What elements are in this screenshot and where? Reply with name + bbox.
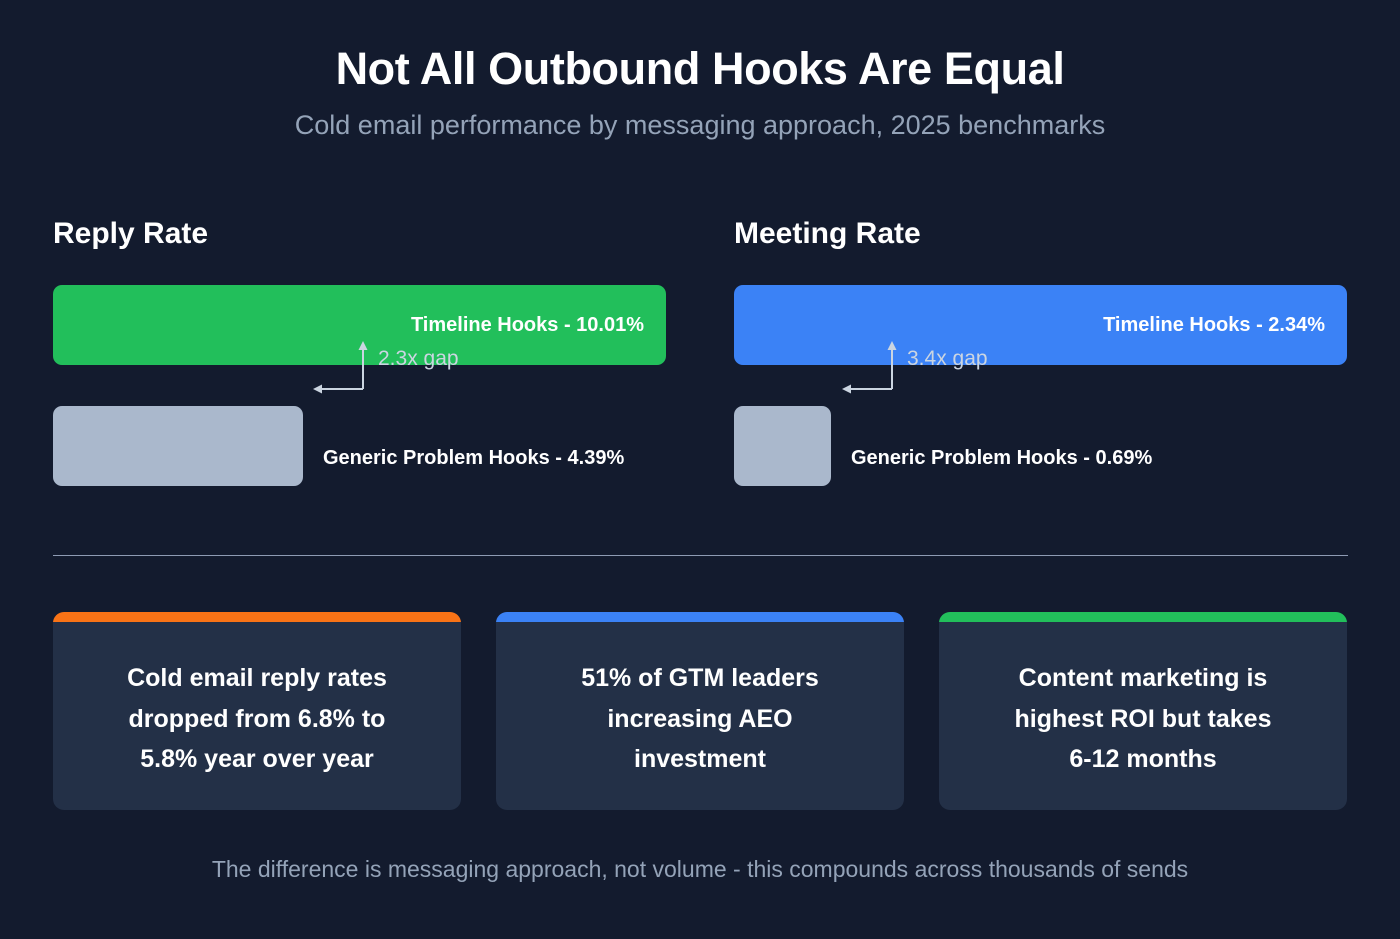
panel-reply-rate: Reply Rate Timeline Hooks - 10.01% Gener… [53, 219, 666, 486]
panel-title-reply-rate: Reply Rate [53, 219, 666, 249]
bar-label-generic-hooks-reply: Generic Problem Hooks - 4.39% [323, 447, 624, 470]
stat-card-content-marketing-roi: Content marketing is highest ROI but tak… [939, 612, 1347, 810]
panel-meeting-rate: Meeting Rate Timeline Hooks - 2.34% Gene… [734, 219, 1347, 486]
panel-title-meeting-rate: Meeting Rate [734, 219, 1347, 249]
panel-spacer-reply [53, 365, 666, 406]
bar-generic-hooks-meeting [734, 406, 831, 486]
stat-card-reply-rate-decline: Cold email reply rates dropped from 6.8%… [53, 612, 461, 810]
bar-label-timeline-hooks-meeting: Timeline Hooks - 2.34% [1103, 314, 1347, 337]
chart-panels: Reply Rate Timeline Hooks - 10.01% Gener… [53, 219, 1348, 486]
bar-label-timeline-hooks-reply: Timeline Hooks - 10.01% [411, 314, 666, 337]
card-accent-bar-green [939, 612, 1347, 622]
stat-card-text-2: 51% of GTM leaders increasing AEO invest… [555, 636, 845, 786]
section-divider [53, 555, 1348, 556]
stat-card-text-3: Content marketing is highest ROI but tak… [989, 636, 1298, 786]
bar-label-generic-hooks-meeting: Generic Problem Hooks - 0.69% [851, 447, 1152, 470]
bar-row-timeline-hooks-meeting: Timeline Hooks - 2.34% [734, 285, 1347, 365]
footer-note: The difference is messaging approach, no… [0, 856, 1400, 884]
panel-spacer-meeting [734, 365, 1347, 406]
card-accent-bar-orange [53, 612, 461, 622]
page-subtitle: Cold email performance by messaging appr… [0, 110, 1400, 141]
bar-timeline-hooks-reply: Timeline Hooks - 10.01% [53, 285, 666, 365]
bar-row-timeline-hooks-reply: Timeline Hooks - 10.01% [53, 285, 666, 365]
header: Not All Outbound Hooks Are Equal Cold em… [0, 0, 1400, 141]
card-accent-bar-blue [496, 612, 904, 622]
bar-row-generic-hooks-meeting: Generic Problem Hooks - 0.69% [734, 406, 1347, 486]
page-title: Not All Outbound Hooks Are Equal [0, 44, 1400, 94]
stat-card-text-1: Cold email reply rates dropped from 6.8%… [101, 636, 413, 786]
infographic-page: Not All Outbound Hooks Are Equal Cold em… [0, 0, 1400, 939]
bar-row-generic-hooks-reply: Generic Problem Hooks - 4.39% [53, 406, 666, 486]
bar-generic-hooks-reply [53, 406, 303, 486]
stat-card-aeo-investment: 51% of GTM leaders increasing AEO invest… [496, 612, 904, 810]
stat-cards: Cold email reply rates dropped from 6.8%… [53, 612, 1348, 810]
bar-timeline-hooks-meeting: Timeline Hooks - 2.34% [734, 285, 1347, 365]
